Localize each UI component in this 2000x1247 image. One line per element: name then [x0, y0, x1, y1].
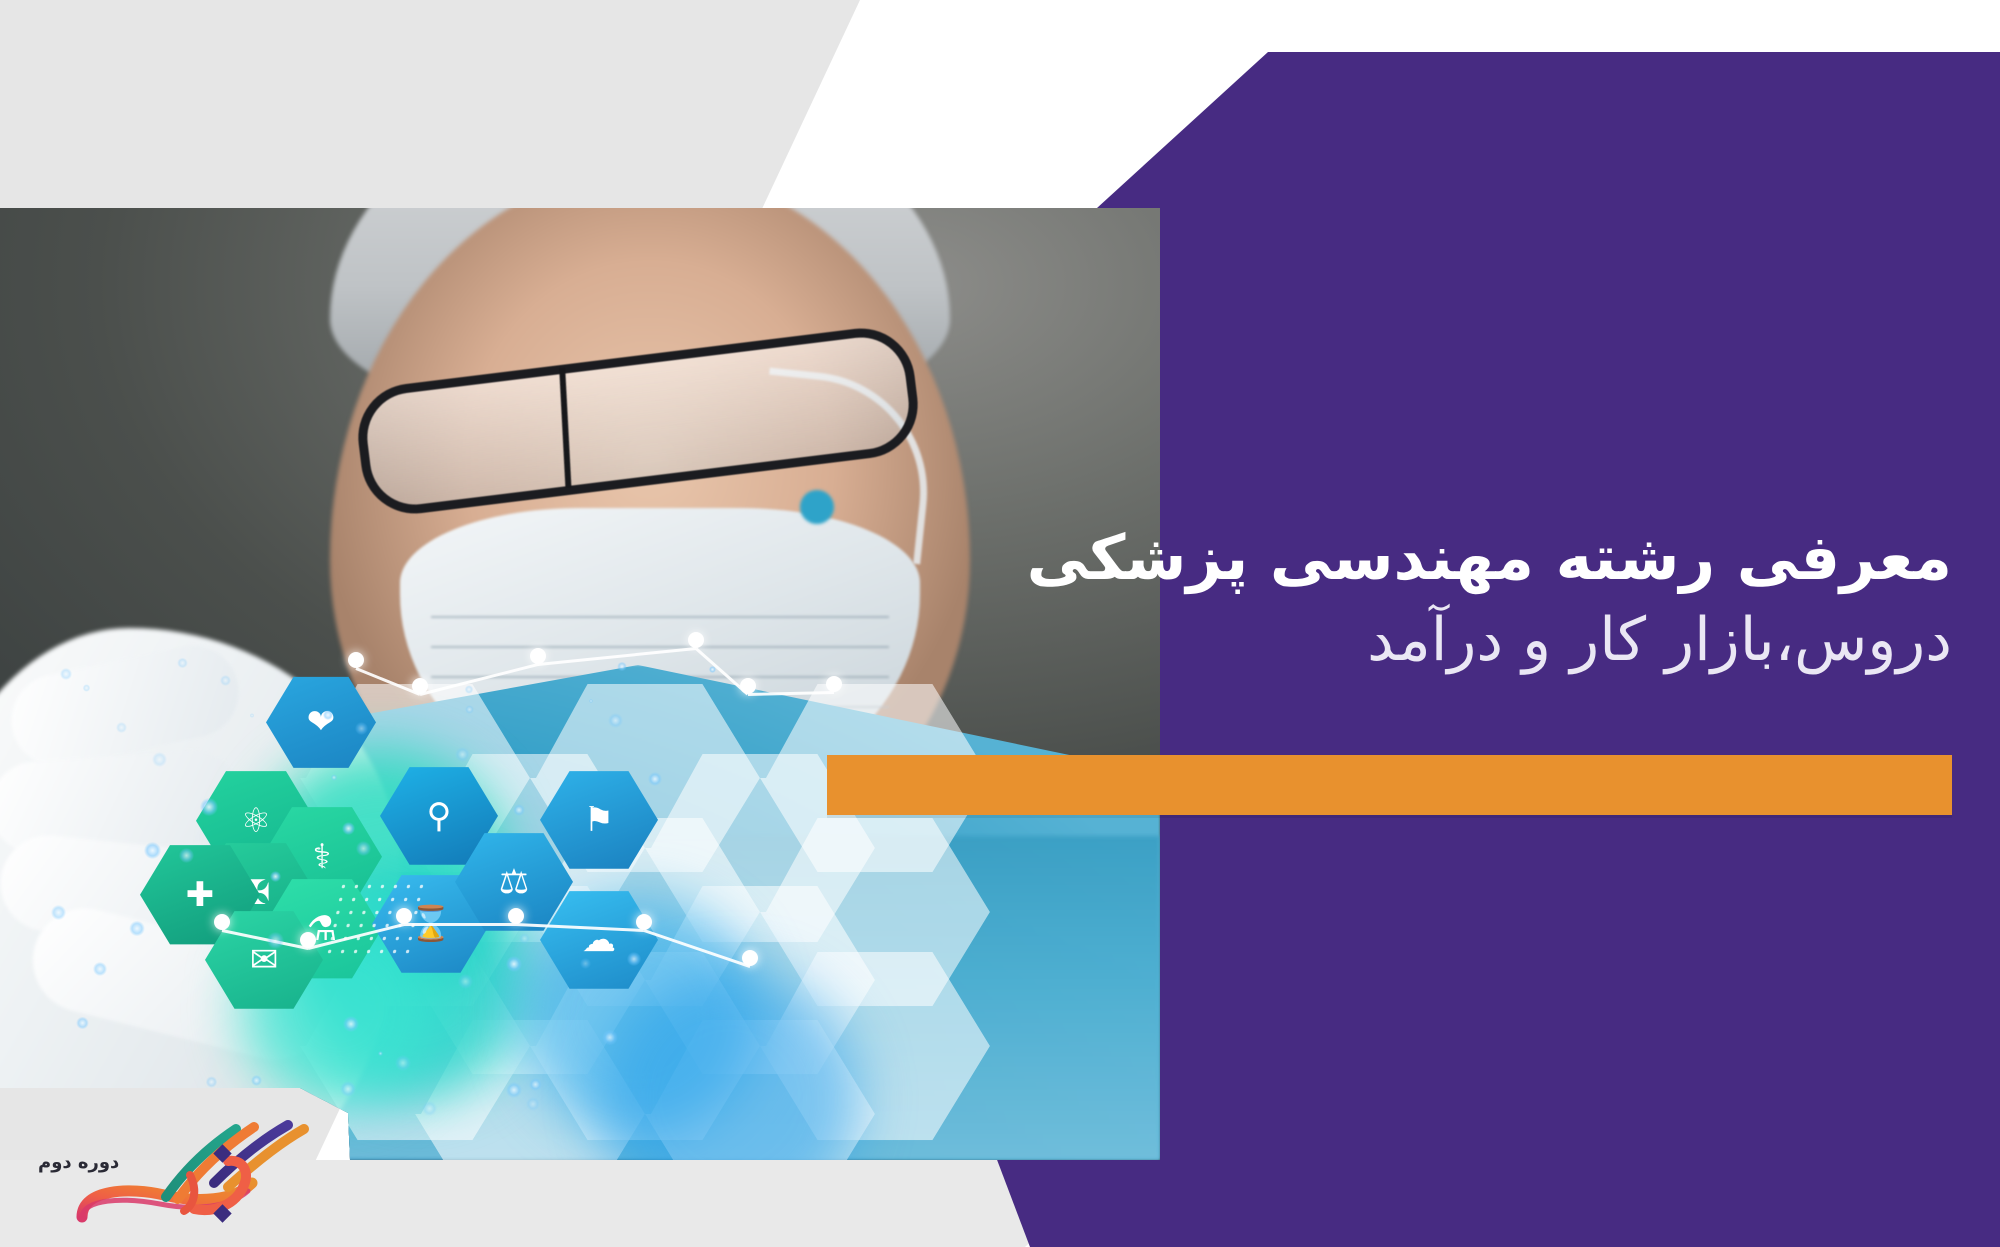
hologram-sparkle	[602, 1030, 618, 1046]
hologram-sparkle	[589, 699, 593, 703]
hologram-sparkle	[356, 841, 371, 856]
hero-photo: ⚛⚕✠⚗✚❤⚲⌛⚖⚑☁✉	[0, 208, 1160, 1160]
hologram-link	[420, 663, 539, 696]
brand-logo[interactable]	[38, 1113, 318, 1241]
hologram-sparkle	[580, 958, 591, 969]
hologram-sparkle	[343, 1016, 359, 1032]
hologram-sparkle	[648, 772, 662, 786]
hologram-sparkle	[220, 675, 231, 686]
hologram-sparkle	[129, 921, 145, 937]
hologram-sparkle	[60, 668, 72, 680]
hologram-sparkle	[617, 662, 627, 672]
hologram-sparkle	[251, 1075, 262, 1086]
headline-block: معرفی رشته مهندسی پزشکی دروس،بازار کار و…	[772, 522, 1952, 681]
hologram-sparkle	[465, 685, 474, 694]
logo-subtitle: دوره دوم	[38, 1152, 119, 1173]
hologram-node	[214, 914, 230, 930]
hologram-sparkle	[152, 752, 167, 767]
hologram-hex-grid: ⚛⚕✠⚗✚❤⚲⌛⚖⚑☁✉	[0, 208, 1160, 1160]
hologram-sparkle	[250, 713, 255, 718]
hologram-sparkle	[144, 842, 161, 859]
hologram-node	[636, 914, 652, 930]
hologram-sparkle	[342, 822, 355, 835]
hologram-sparkle	[206, 1076, 217, 1087]
hologram-sparkle	[51, 905, 66, 920]
hologram-sparkle	[519, 933, 530, 944]
hologram-sparkle	[177, 658, 188, 669]
hologram-sparkle	[200, 798, 218, 816]
hologram-sparkle	[179, 848, 194, 863]
hologram-sparkle	[93, 962, 107, 976]
hologram-sparkle	[116, 722, 127, 733]
hologram-sparkle	[422, 1101, 436, 1115]
hologram-sparkle	[83, 684, 90, 691]
hologram-sparkle	[526, 1097, 540, 1111]
hologram-sparkle	[709, 666, 716, 673]
hologram-sparkle	[331, 774, 338, 781]
hologram-node	[688, 632, 704, 648]
hologram-sparkle	[267, 932, 284, 949]
hologram-dot-grid	[322, 880, 431, 958]
hologram-sparkle	[378, 1051, 383, 1056]
hologram-sparkle	[627, 952, 640, 965]
hologram-sparkle	[323, 710, 333, 720]
hologram-node	[508, 908, 524, 924]
page-title: معرفی رشته مهندسی پزشکی	[772, 522, 1952, 594]
hologram-sparkle	[76, 1017, 89, 1030]
page-subtitle: دروس،بازار کار و درآمد	[772, 600, 1952, 681]
slide-canvas: ⚛⚕✠⚗✚❤⚲⌛⚖⚑☁✉ معرفی رشته مهندسی پزشکی درو…	[0, 0, 2000, 1247]
accent-bar	[827, 755, 1952, 815]
hologram-node	[348, 652, 364, 668]
hologram-sparkle	[455, 747, 470, 762]
hero-photo-image: ⚛⚕✠⚗✚❤⚲⌛⚖⚑☁✉	[0, 208, 1160, 1160]
